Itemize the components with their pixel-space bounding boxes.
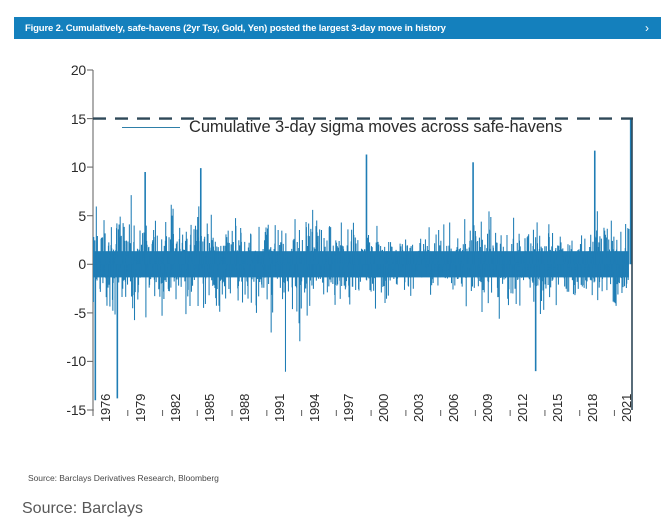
chevron-right-icon[interactable]: › xyxy=(645,22,653,34)
x-tick-label: 2012 xyxy=(515,394,530,422)
figure-title: Figure 2. Cumulatively, safe-havens (2yr… xyxy=(25,23,645,34)
y-tick-label: -15 xyxy=(46,402,86,418)
x-tick-label: 1997 xyxy=(341,394,356,422)
x-tick-label: 1979 xyxy=(133,394,148,422)
spike-bars xyxy=(93,195,629,372)
x-tick-label: 2003 xyxy=(411,394,426,422)
legend-line-swatch xyxy=(122,127,180,128)
x-tick-label: 2021 xyxy=(619,394,634,422)
figure-card: Figure 2. Cumulatively, safe-havens (2yr… xyxy=(0,0,661,495)
x-axis-labels: 1976197919821985198819911994199720002003… xyxy=(0,44,661,114)
y-tick-label: 10 xyxy=(46,159,86,175)
y-tick-label: -5 xyxy=(46,305,86,321)
y-axis-ticks xyxy=(87,70,93,410)
x-tick-label: 2006 xyxy=(446,394,461,422)
x-tick-label: 1982 xyxy=(168,394,183,422)
y-tick-label: 0 xyxy=(46,256,86,272)
legend-label: Cumulative 3-day sigma moves across safe… xyxy=(189,118,562,137)
x-tick-label: 1976 xyxy=(98,394,113,422)
data-series-spikes xyxy=(93,119,631,401)
chart-source-note: Source: Barclays Derivatives Research, B… xyxy=(28,473,219,483)
x-tick-label: 2009 xyxy=(480,394,495,422)
x-tick-label: 1994 xyxy=(307,394,322,422)
x-tick-label: 1991 xyxy=(272,394,287,422)
y-tick-label: 5 xyxy=(46,208,86,224)
x-tick-label: 1988 xyxy=(237,394,252,422)
x-tick-label: 1985 xyxy=(202,394,217,422)
x-tick-label: 2018 xyxy=(585,394,600,422)
y-tick-label: -10 xyxy=(46,353,86,369)
figure-header-bar: Figure 2. Cumulatively, safe-havens (2yr… xyxy=(14,17,661,39)
chart-plot-area: 20 15 10 5 0 -5 -10 -15 1976197919821985… xyxy=(0,44,661,468)
chart-legend: Cumulative 3-day sigma moves across safe… xyxy=(122,118,562,137)
page-source-note: Source: Barclays xyxy=(22,500,143,518)
x-tick-label: 2015 xyxy=(550,394,565,422)
x-tick-label: 2000 xyxy=(376,394,391,422)
